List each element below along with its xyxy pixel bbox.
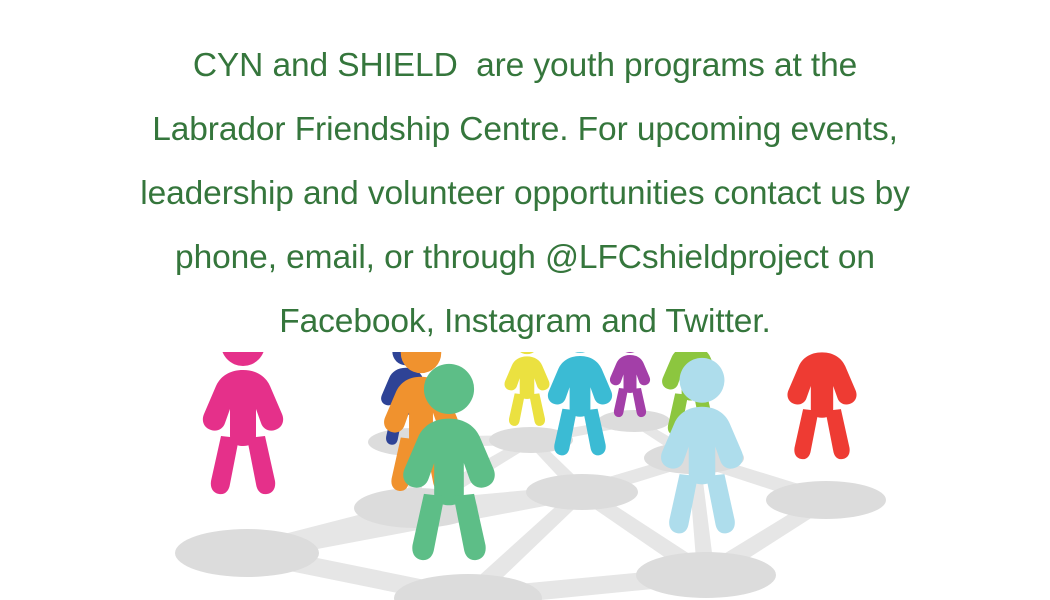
network-people (203, 352, 857, 560)
person-leg-left (211, 436, 239, 494)
person-head (515, 352, 540, 354)
person-head (424, 364, 474, 414)
platform-cyan (526, 474, 638, 510)
person-leg-left (794, 409, 818, 459)
page-root: CYN and SHIELD are youth programs at the… (0, 0, 1050, 600)
message-line-5: Facebook, Instagram and Twitter. (0, 290, 1050, 354)
person-purple (610, 352, 650, 417)
person-leg-right (529, 393, 545, 426)
person-torso (505, 356, 550, 399)
platform-purple (598, 410, 670, 432)
person-torso (548, 356, 612, 417)
person-yellow (505, 352, 550, 426)
person-leg-right (247, 436, 275, 494)
person-torso (787, 352, 856, 417)
person-torso (610, 355, 650, 393)
people-network-illustration (0, 352, 1050, 600)
message-line-1: CYN and SHIELD are youth programs at the (0, 34, 1050, 98)
person-head (619, 352, 641, 353)
person-red (787, 352, 856, 459)
platform-green (394, 574, 542, 600)
person-torso (203, 370, 283, 446)
person-head (221, 352, 265, 366)
person-leg-right (706, 474, 735, 533)
message-line-4: phone, email, or through @LFCshieldproje… (0, 226, 1050, 290)
person-head (562, 352, 597, 353)
message-line-2: Labrador Friendship Centre. For upcoming… (0, 98, 1050, 162)
message-line-3: leadership and volunteer opportunities c… (0, 162, 1050, 226)
person-pink (203, 352, 283, 494)
person-cyan (548, 352, 612, 455)
platform-lightblue (636, 552, 776, 598)
person-leg-left (509, 393, 525, 426)
message-block: CYN and SHIELD are youth programs at the… (0, 34, 1050, 354)
platform-pink (175, 529, 319, 577)
network-svg (0, 352, 1050, 600)
person-leg-right (825, 409, 849, 459)
platform-red (766, 481, 886, 519)
person-head (680, 358, 725, 403)
